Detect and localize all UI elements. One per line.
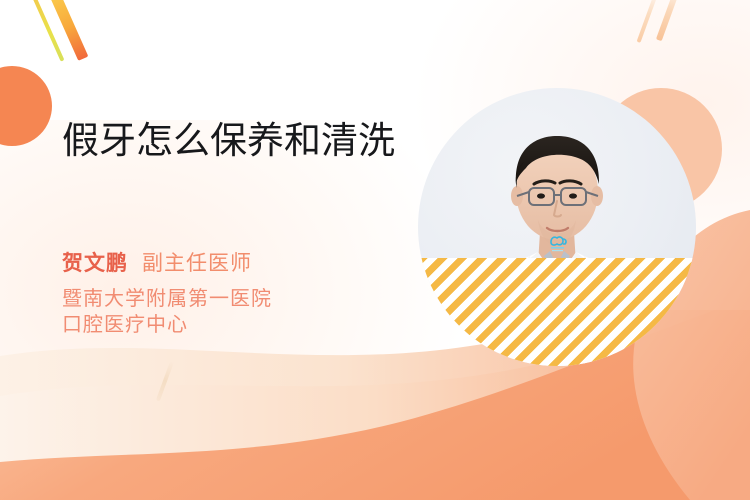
- portrait-circle-frame: [418, 88, 696, 366]
- striped-arc-decoration: [418, 258, 696, 366]
- doctor-intro-card: 假牙怎么保养和清洗 贺文鹏副主任医师 暨南大学附属第一医院 口腔医疗中心: [0, 0, 750, 500]
- orange-diagonal-stripe-icon: [47, 0, 89, 61]
- doctor-name: 贺文鹏: [62, 252, 128, 275]
- doctor-credentials: 贺文鹏副主任医师: [62, 247, 252, 277]
- hospital-line-1: 暨南大学附属第一医院: [62, 286, 392, 312]
- faint-peach-stripe-icon-b: [656, 0, 682, 41]
- hospital-line-2: 口腔医疗中心: [62, 312, 392, 338]
- page-title: 假牙怎么保养和清洗: [62, 118, 412, 164]
- doctor-rank: 副主任医师: [142, 252, 252, 275]
- orange-circle-decoration: [0, 66, 52, 146]
- doctor-portrait: [418, 88, 696, 366]
- hospital-affiliation: 暨南大学附属第一医院 口腔医疗中心: [62, 286, 392, 338]
- hospital-logo-badge: [546, 233, 572, 253]
